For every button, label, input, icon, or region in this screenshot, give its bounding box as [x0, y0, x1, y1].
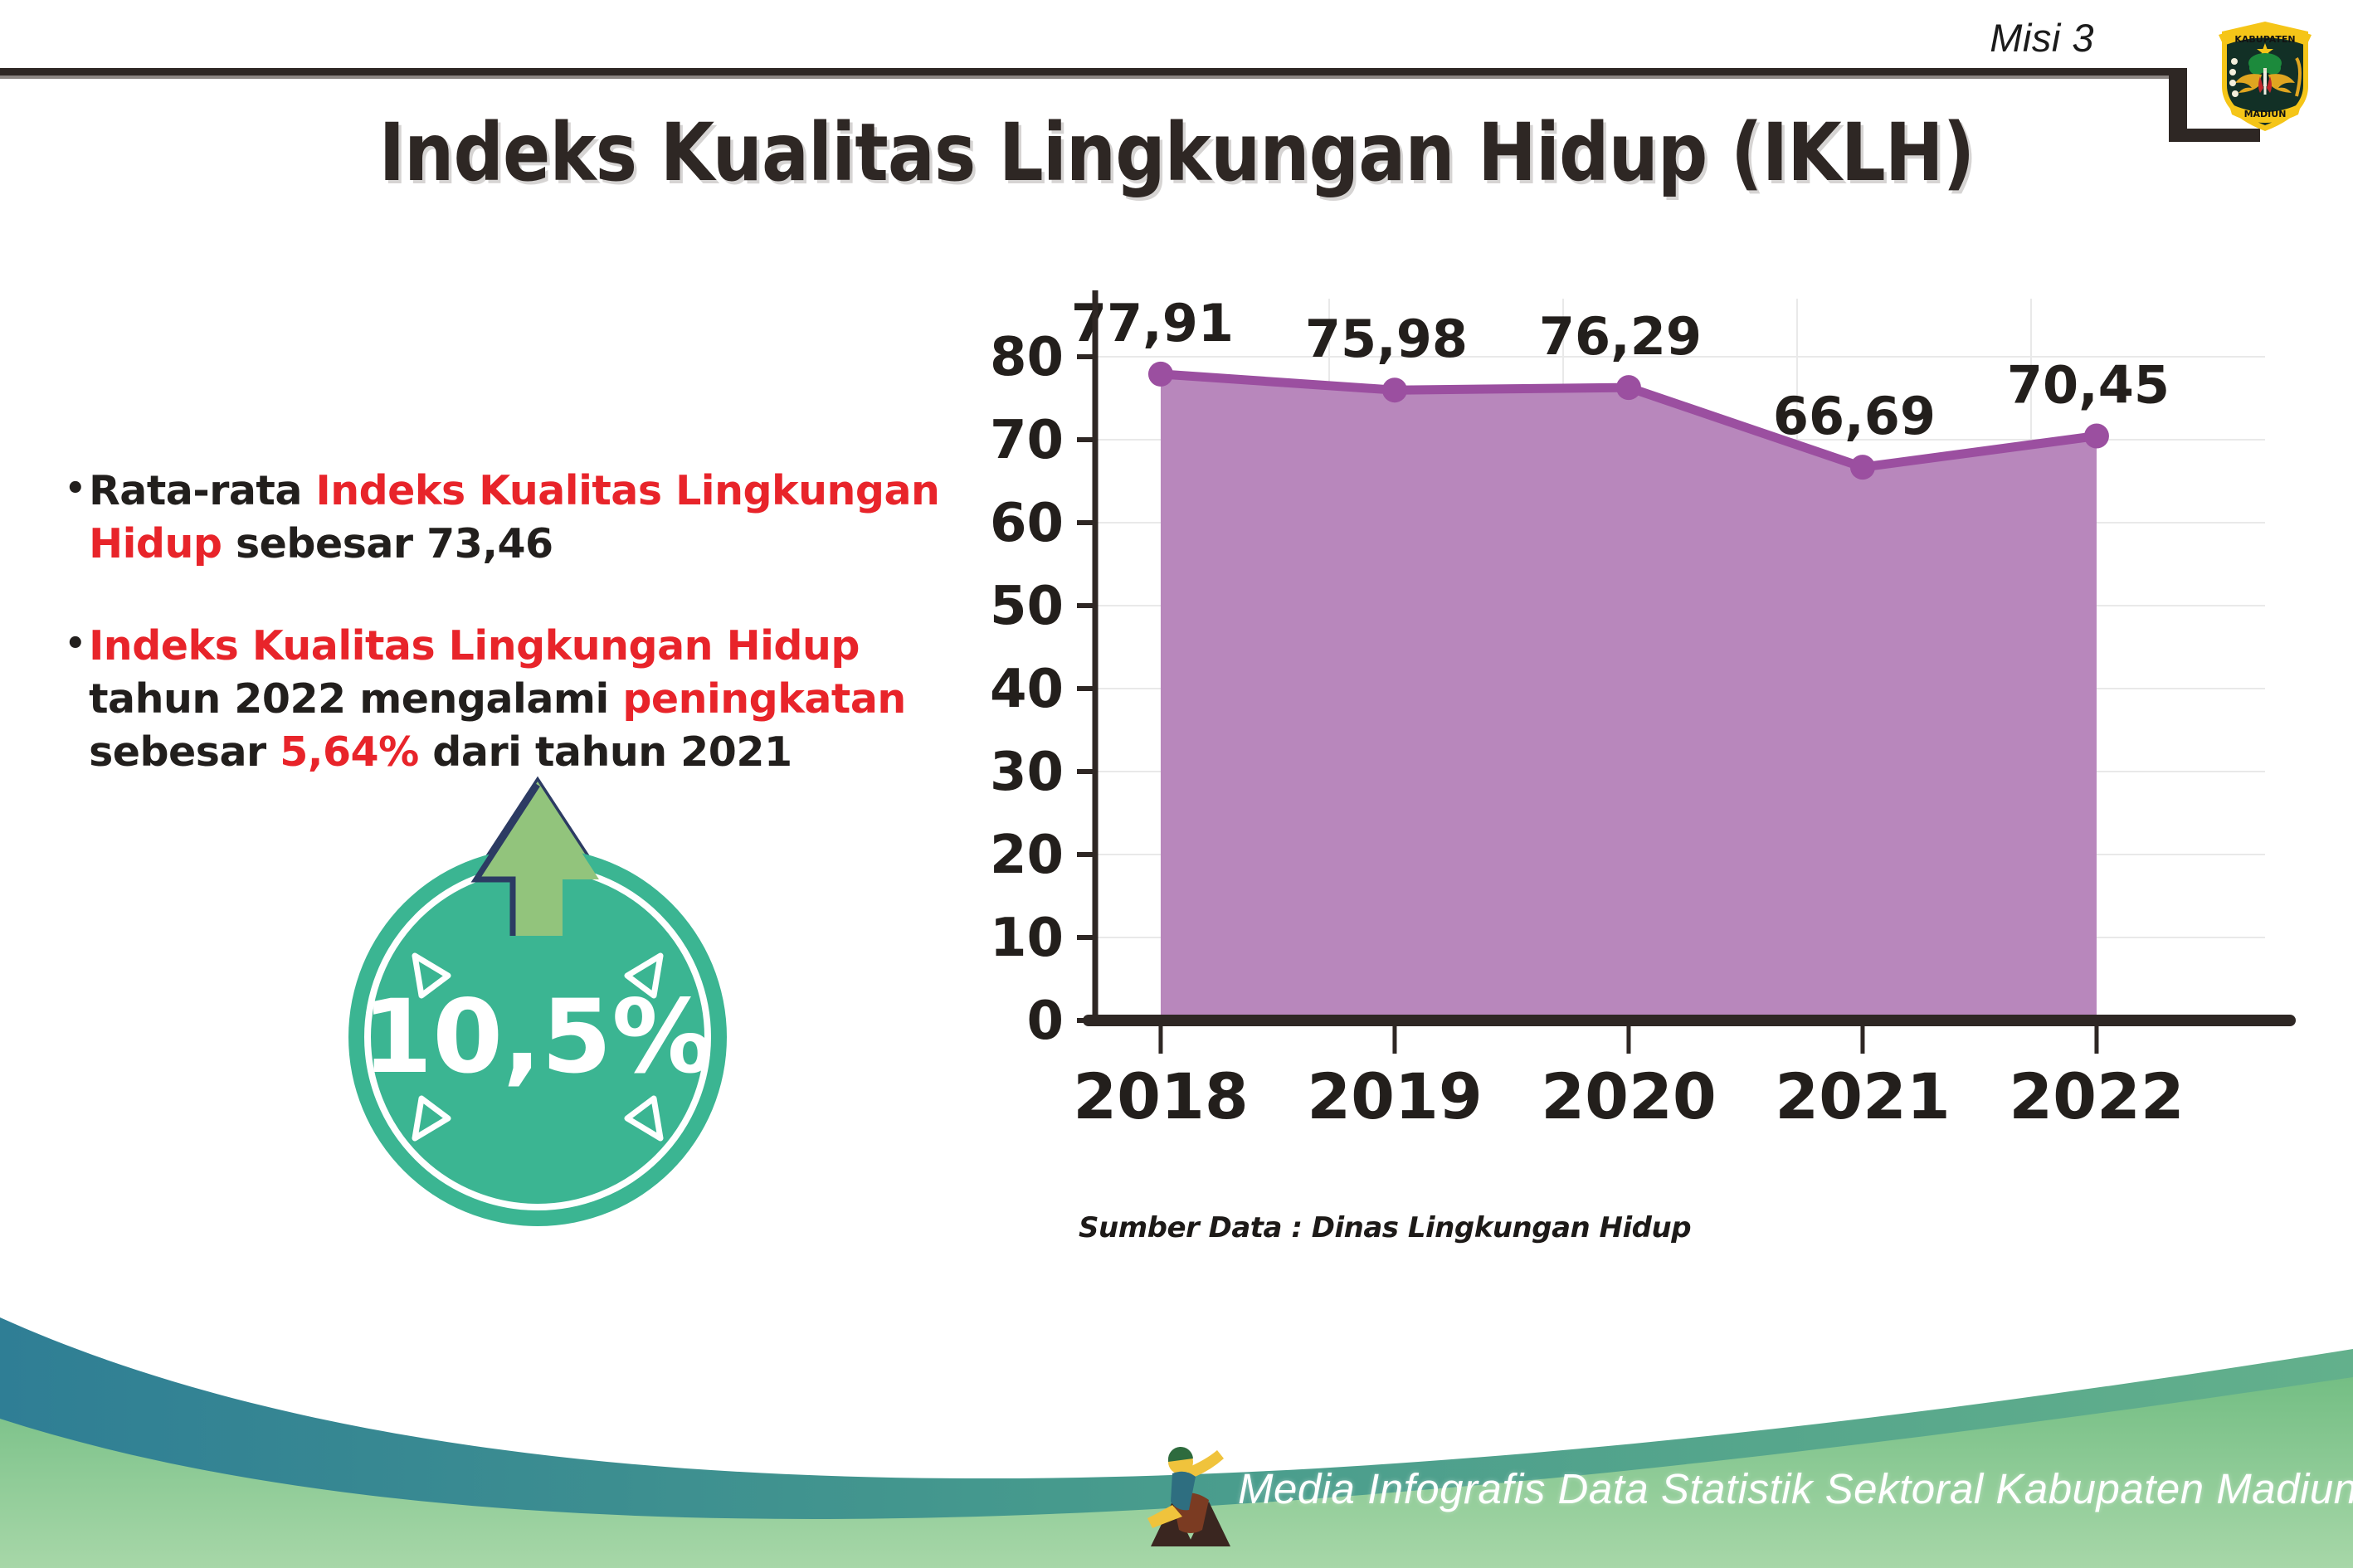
- emblem-bottom-text: MADIUN: [2244, 109, 2287, 119]
- chart-value-label: 70,45: [2007, 355, 2170, 416]
- chart-value-label: 75,98: [1305, 309, 1468, 369]
- bullet-text-0: Rata-rata Indeks Kualitas Lingkungan Hid…: [89, 465, 944, 570]
- plain-phrase: Rata-rata: [89, 467, 315, 514]
- y-axis-tick-label: 80: [990, 327, 1064, 388]
- x-axis-category-label: 2020: [1541, 1059, 1717, 1133]
- footer-text: Media Infografis Data Statistik Sektoral…: [1238, 1464, 2353, 1513]
- highlighted-phrase: Indeks Kualitas Lingkungan Hidup: [89, 622, 860, 670]
- chart-area-fill: [1161, 374, 2097, 1020]
- y-axis-tick-label: 40: [990, 659, 1064, 720]
- y-axis-tick-label: 10: [990, 908, 1064, 969]
- x-axis-category-label: 2018: [1073, 1059, 1249, 1133]
- badge-value-label: 10,5%: [362, 978, 713, 1096]
- x-axis-category-label: 2022: [2009, 1059, 2185, 1133]
- kabupaten-madiun-emblem-icon: KABUPATEN MADIUN: [2210, 10, 2320, 136]
- x-axis-category-label: 2019: [1307, 1059, 1483, 1133]
- y-axis-tick-label: 20: [990, 825, 1064, 886]
- chart-data-point: [1382, 377, 1407, 402]
- page-title: Indeks Kualitas Lingkungan Hidup (IKLH): [141, 106, 2212, 199]
- y-axis-tick-label: 30: [990, 742, 1064, 803]
- misi-label: Misi 3: [1990, 15, 2094, 61]
- x-axis-category-label: 2021: [1775, 1059, 1951, 1133]
- bullet-dot-icon: •: [65, 465, 85, 513]
- chart-source-note: Sumber Data : Dinas Lingkungan Hidup: [1079, 1211, 1691, 1244]
- chart-data-point: [1148, 362, 1173, 387]
- chart-value-label: 66,69: [1773, 386, 1936, 446]
- bullet-item: • Rata-rata Indeks Kualitas Lingkungan H…: [65, 465, 944, 570]
- highlighted-phrase: peningkatan: [622, 675, 905, 723]
- infographic-slide: Misi 3 KABUPATEN: [0, 0, 2353, 1568]
- chart-data-point: [1850, 455, 1875, 480]
- increase-badge: 10,5%: [322, 747, 753, 1228]
- y-axis-tick-label: 50: [990, 576, 1064, 637]
- header-divider-bar: [0, 68, 2169, 75]
- media-infografis-logo-icon: [1147, 1440, 1234, 1550]
- chart-value-label: 76,29: [1539, 306, 1702, 367]
- plain-phrase: sebesar 73,46: [222, 520, 553, 567]
- chart-data-point: [2084, 424, 2109, 449]
- y-axis-tick-label: 0: [1026, 991, 1064, 1052]
- plain-phrase: sebesar: [89, 728, 280, 776]
- header-divider-shadow: [0, 75, 2169, 79]
- y-axis-tick-label: 60: [990, 493, 1064, 554]
- plain-phrase: tahun 2022 mengalami: [89, 675, 622, 723]
- chart-data-point: [1616, 375, 1641, 400]
- y-axis-tick-label: 70: [990, 410, 1064, 471]
- bullet-dot-icon: •: [65, 620, 85, 668]
- iklh-area-chart: 77,9175,9876,2966,6970,45010203040506070…: [971, 282, 2298, 1170]
